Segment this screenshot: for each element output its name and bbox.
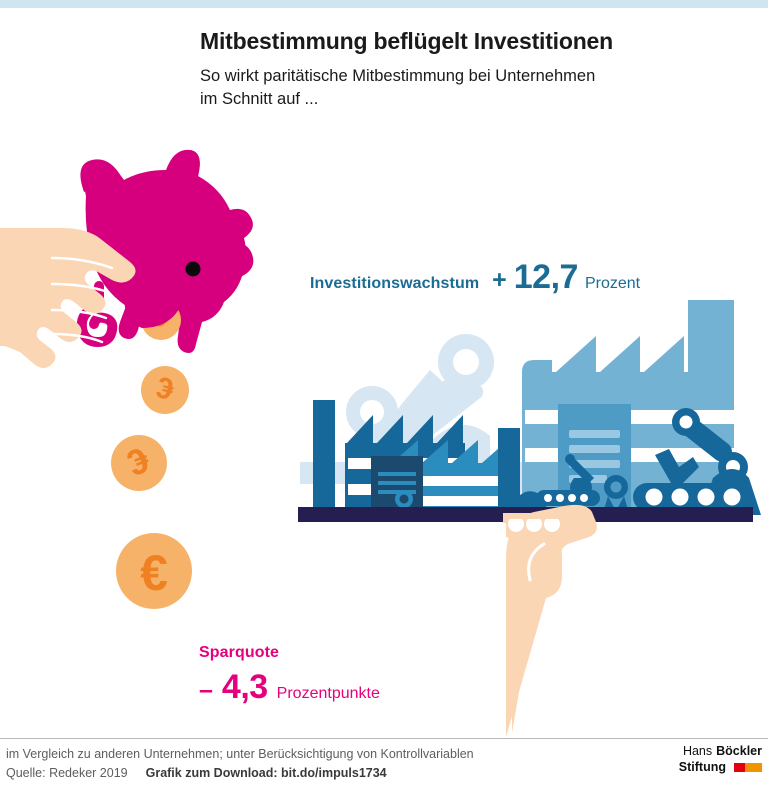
stat-investitionswachstum-sign: + [492, 266, 507, 295]
logo-hans: Hans [683, 744, 712, 760]
piggy-bank-illustration: € [80, 150, 253, 353]
coin-large: € [116, 533, 192, 609]
source-text: Quelle: Redeker 2019 [6, 764, 128, 783]
stat-sparquote-number: 4,3 [222, 668, 268, 707]
logo-swatch-red [734, 763, 745, 772]
infographic-canvas: Mitbestimmung beflügelt Investitionen So… [0, 0, 768, 787]
footer-block: im Vergleich zu anderen Unternehmen; unt… [6, 745, 566, 784]
factory-base-platform [298, 507, 753, 522]
source-line: Quelle: Redeker 2019 Grafik zum Download… [6, 764, 566, 783]
stat-investitionswachstum-label: Investitionswachstum [310, 275, 479, 293]
hans-boeckler-stiftung-logo[interactable]: Hans Böckler Stiftung [679, 744, 762, 775]
stat-investitionswachstum-value-row: + 12,7 Prozent [492, 258, 640, 297]
hand-finger-lines [52, 258, 112, 342]
certificate-dark-icon [371, 456, 423, 518]
background-robot-arm-icon [300, 334, 540, 515]
page-subtitle: So wirkt paritätische Mitbestimmung bei … [200, 65, 740, 112]
stat-investitionswachstum-unit: Prozent [585, 275, 640, 293]
logo-color-swatches [734, 763, 762, 772]
factory-scene [298, 300, 761, 522]
certificate-light-icon [558, 404, 631, 515]
factory-pale-tower [688, 300, 734, 515]
stat-investitionswachstum: Investitionswachstum + 12,7 Prozent [310, 258, 640, 297]
factory-sawtooth-center [392, 440, 516, 515]
svg-text:€: € [151, 303, 173, 333]
coin-small: € [141, 366, 189, 414]
stat-sparquote-value-row: – 4,3 Prozentpunkte [199, 668, 380, 707]
page-subtitle-line1: So wirkt paritätische Mitbestimmung bei … [200, 65, 740, 88]
svg-text:€: € [140, 545, 168, 601]
header-block: Mitbestimmung beflügelt Investitionen So… [200, 28, 740, 111]
stat-sparquote-sign: – [199, 676, 213, 705]
factory-sawtooth-mid [345, 415, 465, 515]
footer-divider [0, 738, 768, 739]
small-robot-arm-icon [512, 454, 600, 515]
raised-fist-arm-illustration [503, 505, 597, 737]
piggy-eye [186, 262, 201, 277]
svg-text:€: € [153, 369, 178, 405]
page-title: Mitbestimmung beflügelt Investitionen [200, 28, 740, 56]
coin-medium: € [111, 435, 167, 491]
coin-in-slot [141, 300, 181, 340]
factory-chimney-left [313, 400, 335, 515]
hand-holding-piggy-illustration [0, 228, 136, 368]
footnote-text: im Vergleich zu anderen Unternehmen; unt… [6, 745, 566, 764]
download-label: Grafik zum Download: [146, 766, 278, 780]
stat-sparquote-unit: Prozentpunkte [277, 685, 380, 703]
logo-boeckler: Böckler [716, 744, 762, 760]
stat-sparquote-label: Sparquote [199, 644, 380, 662]
stat-investitionswachstum-number: 12,7 [514, 258, 578, 297]
logo-line-2: Stiftung [679, 760, 762, 776]
falling-coins: € € € [111, 366, 192, 609]
logo-swatch-orange [745, 763, 762, 772]
download-url[interactable]: bit.do/impuls1734 [281, 766, 387, 780]
stat-sparquote: Sparquote – 4,3 Prozentpunkte [199, 644, 380, 707]
page-subtitle-line2: im Schnitt auf ... [200, 88, 740, 111]
logo-stiftung: Stiftung [679, 760, 726, 776]
factory-chimney-center [498, 428, 520, 515]
top-accent-band [0, 0, 768, 8]
robot-arm-right-icon [633, 408, 761, 515]
svg-text:€: € [122, 439, 155, 484]
download-group: Grafik zum Download: bit.do/impuls1734 [146, 764, 387, 783]
illustration-layer: € € € € [0, 0, 768, 787]
factory-sawtooth-light [522, 336, 732, 515]
logo-line-1: Hans Böckler [679, 744, 762, 760]
